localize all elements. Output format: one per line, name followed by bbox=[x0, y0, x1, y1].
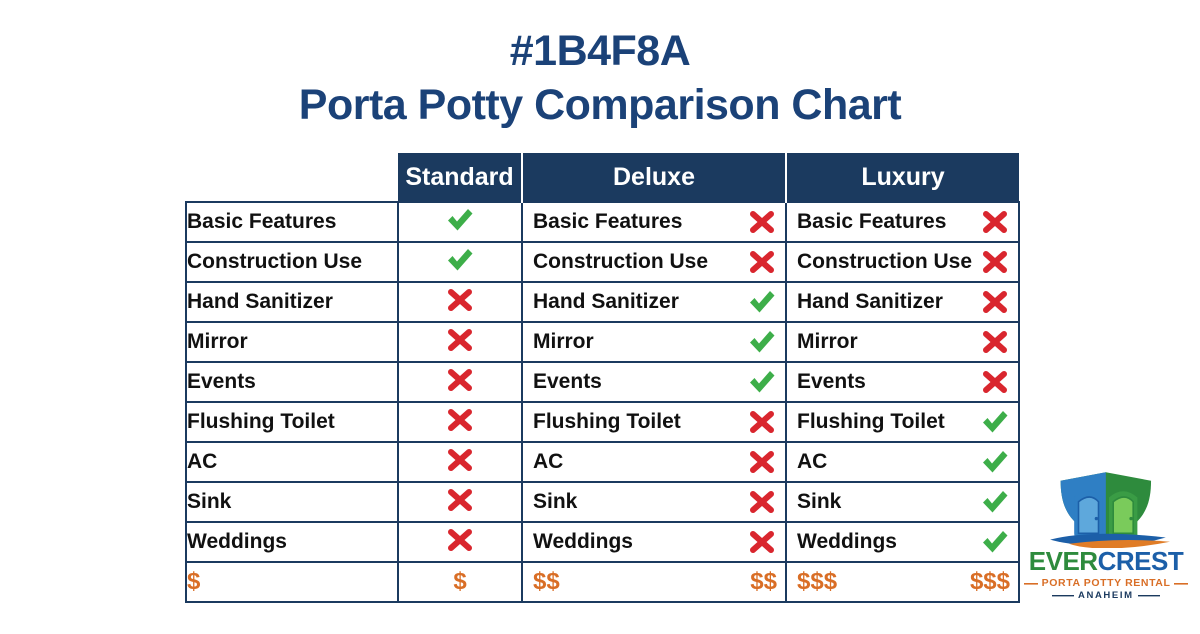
logo-wordmark: EVERCREST bbox=[1020, 546, 1192, 577]
check-icon bbox=[747, 369, 777, 395]
check-mark bbox=[980, 529, 1010, 555]
price-deluxe-cell: $$$$ bbox=[522, 562, 786, 602]
luxury-cell: Events bbox=[786, 362, 1019, 402]
price-feature-cell: $ bbox=[186, 562, 398, 602]
logo-city-dash-left-icon bbox=[1052, 594, 1074, 597]
price-deluxe-content: $$$$ bbox=[523, 563, 785, 601]
luxury-feature-label: Basic Features bbox=[797, 210, 946, 234]
header-row: Standard Deluxe Luxury bbox=[186, 153, 1019, 202]
price-luxury-content: $$$$$$ bbox=[787, 563, 1018, 601]
deluxe-cell-content: AC bbox=[523, 443, 785, 481]
luxury-cell: Hand Sanitizer bbox=[786, 282, 1019, 322]
check-icon bbox=[980, 529, 1010, 555]
price-luxury-label: $$$ bbox=[797, 568, 837, 596]
standard-cell bbox=[398, 362, 522, 402]
cross-icon bbox=[747, 209, 777, 235]
luxury-feature-label: Events bbox=[797, 370, 866, 394]
table-row: Hand SanitizerHand SanitizerHand Sanitiz… bbox=[186, 282, 1019, 322]
cross-icon bbox=[747, 409, 777, 435]
deluxe-feature-label: Weddings bbox=[533, 530, 633, 554]
cross-mark bbox=[980, 209, 1010, 235]
luxury-cell-content: Flushing Toilet bbox=[787, 403, 1018, 441]
page-title: #1B4F8A Porta Potty Comparison Chart bbox=[0, 26, 1200, 132]
luxury-cell-content: Sink bbox=[787, 483, 1018, 521]
check-mark bbox=[980, 449, 1010, 475]
cross-icon bbox=[747, 529, 777, 555]
cross-icon bbox=[980, 249, 1010, 275]
deluxe-cell-content: Events bbox=[523, 363, 785, 401]
price-deluxe-value: $$ bbox=[750, 568, 777, 596]
logo-subtitle-text: PORTA POTTY RENTAL bbox=[1042, 577, 1171, 589]
check-mark bbox=[980, 489, 1010, 515]
deluxe-feature-label: AC bbox=[533, 450, 563, 474]
check-mark bbox=[980, 409, 1010, 435]
deluxe-cell: Weddings bbox=[522, 522, 786, 562]
price-standard-cell: $ bbox=[398, 562, 522, 602]
cross-icon bbox=[980, 209, 1010, 235]
standard-cell bbox=[398, 322, 522, 362]
luxury-feature-label: Hand Sanitizer bbox=[797, 290, 943, 314]
header-standard: Standard bbox=[398, 153, 522, 202]
feature-label-construction-use: Construction Use bbox=[186, 242, 398, 282]
check-icon bbox=[980, 489, 1010, 515]
table-row: Basic FeaturesBasic FeaturesBasic Featur… bbox=[186, 202, 1019, 242]
standard-cell bbox=[398, 482, 522, 522]
cross-mark bbox=[445, 487, 475, 513]
logo-city: ANAHEIM bbox=[1020, 590, 1192, 601]
luxury-feature-label: AC bbox=[797, 450, 827, 474]
luxury-cell-content: AC bbox=[787, 443, 1018, 481]
cross-mark bbox=[445, 407, 475, 433]
cross-mark bbox=[445, 327, 475, 353]
standard-cell bbox=[398, 282, 522, 322]
deluxe-feature-label: Flushing Toilet bbox=[533, 410, 681, 434]
comparison-table: Standard Deluxe Luxury Basic FeaturesBas… bbox=[185, 153, 1020, 603]
feature-label-events: Events bbox=[186, 362, 398, 402]
cross-icon bbox=[445, 327, 475, 353]
deluxe-feature-label: Construction Use bbox=[533, 250, 708, 274]
price-luxury-value: $$$ bbox=[970, 568, 1010, 596]
logo-word-crest: CREST bbox=[1098, 546, 1184, 576]
title-code: #1B4F8A bbox=[0, 26, 1200, 76]
cross-icon bbox=[747, 489, 777, 515]
cross-mark bbox=[980, 369, 1010, 395]
deluxe-cell-content: Basic Features bbox=[523, 203, 785, 241]
table-row: EventsEventsEvents bbox=[186, 362, 1019, 402]
cross-mark bbox=[747, 249, 777, 275]
luxury-feature-label: Construction Use bbox=[797, 250, 972, 274]
cross-mark bbox=[747, 409, 777, 435]
logo-dash-right-icon bbox=[1174, 582, 1188, 585]
deluxe-cell: Mirror bbox=[522, 322, 786, 362]
luxury-cell: Sink bbox=[786, 482, 1019, 522]
check-mark bbox=[747, 329, 777, 355]
cross-mark bbox=[747, 209, 777, 235]
deluxe-cell-content: Sink bbox=[523, 483, 785, 521]
deluxe-cell: AC bbox=[522, 442, 786, 482]
evercrest-logo: EVERCREST PORTA POTTY RENTAL ANAHEIM bbox=[1020, 466, 1192, 606]
price-luxury-cell: $$$$$$ bbox=[786, 562, 1019, 602]
cross-icon bbox=[747, 449, 777, 475]
deluxe-feature-label: Hand Sanitizer bbox=[533, 290, 679, 314]
standard-cell bbox=[398, 522, 522, 562]
luxury-cell-content: Mirror bbox=[787, 323, 1018, 361]
table-row: Flushing ToiletFlushing ToiletFlushing T… bbox=[186, 402, 1019, 442]
cross-mark bbox=[980, 329, 1010, 355]
deluxe-cell: Hand Sanitizer bbox=[522, 282, 786, 322]
price-deluxe-label: $$ bbox=[533, 568, 560, 596]
luxury-cell-content: Basic Features bbox=[787, 203, 1018, 241]
deluxe-feature-label: Sink bbox=[533, 490, 577, 514]
feature-label-flushing-toilet: Flushing Toilet bbox=[186, 402, 398, 442]
check-mark bbox=[747, 289, 777, 315]
cross-mark bbox=[445, 287, 475, 313]
check-icon bbox=[980, 449, 1010, 475]
standard-cell bbox=[398, 442, 522, 482]
luxury-cell: Flushing Toilet bbox=[786, 402, 1019, 442]
luxury-cell-content: Weddings bbox=[787, 523, 1018, 561]
feature-label-hand-sanitizer: Hand Sanitizer bbox=[186, 282, 398, 322]
cross-mark bbox=[445, 367, 475, 393]
check-icon bbox=[747, 329, 777, 355]
title-main: Porta Potty Comparison Chart bbox=[0, 78, 1200, 132]
cross-icon bbox=[445, 487, 475, 513]
logo-city-text: ANAHEIM bbox=[1078, 590, 1134, 601]
cross-icon bbox=[980, 369, 1010, 395]
cross-icon bbox=[445, 527, 475, 553]
standard-cell bbox=[398, 202, 522, 242]
luxury-cell: Mirror bbox=[786, 322, 1019, 362]
luxury-cell-content: Hand Sanitizer bbox=[787, 283, 1018, 321]
luxury-cell: Weddings bbox=[786, 522, 1019, 562]
logo-word-ever: EVER bbox=[1029, 546, 1098, 576]
shield-porta-potty-icon bbox=[1027, 466, 1185, 548]
check-icon bbox=[445, 207, 475, 233]
luxury-cell: Construction Use bbox=[786, 242, 1019, 282]
cross-mark bbox=[980, 249, 1010, 275]
deluxe-cell: Flushing Toilet bbox=[522, 402, 786, 442]
deluxe-cell: Sink bbox=[522, 482, 786, 522]
deluxe-feature-label: Events bbox=[533, 370, 602, 394]
feature-label-ac: AC bbox=[186, 442, 398, 482]
luxury-feature-label: Sink bbox=[797, 490, 841, 514]
cross-icon bbox=[980, 289, 1010, 315]
deluxe-feature-label: Basic Features bbox=[533, 210, 682, 234]
luxury-cell-content: Construction Use bbox=[787, 243, 1018, 281]
luxury-feature-label: Mirror bbox=[797, 330, 858, 354]
check-mark bbox=[445, 207, 475, 233]
check-icon bbox=[747, 289, 777, 315]
deluxe-cell-content: Construction Use bbox=[523, 243, 785, 281]
logo-city-dash-right-icon bbox=[1138, 594, 1160, 597]
feature-label-weddings: Weddings bbox=[186, 522, 398, 562]
luxury-cell: Basic Features bbox=[786, 202, 1019, 242]
cross-mark bbox=[980, 289, 1010, 315]
check-icon bbox=[445, 247, 475, 273]
cross-icon bbox=[747, 249, 777, 275]
table-row: Construction UseConstruction UseConstruc… bbox=[186, 242, 1019, 282]
table-body: Basic FeaturesBasic FeaturesBasic Featur… bbox=[186, 202, 1019, 602]
luxury-feature-label: Flushing Toilet bbox=[797, 410, 945, 434]
header-deluxe: Deluxe bbox=[522, 153, 786, 202]
logo-subtitle: PORTA POTTY RENTAL bbox=[1020, 577, 1192, 589]
standard-cell bbox=[398, 242, 522, 282]
table-row: SinkSinkSink bbox=[186, 482, 1019, 522]
luxury-cell: AC bbox=[786, 442, 1019, 482]
luxury-cell-content: Events bbox=[787, 363, 1018, 401]
cross-icon bbox=[980, 329, 1010, 355]
feature-label-mirror: Mirror bbox=[186, 322, 398, 362]
table-header: Standard Deluxe Luxury bbox=[186, 153, 1019, 202]
cross-icon bbox=[445, 287, 475, 313]
deluxe-cell-content: Hand Sanitizer bbox=[523, 283, 785, 321]
table-row: ACACAC bbox=[186, 442, 1019, 482]
cross-mark bbox=[445, 447, 475, 473]
cross-mark bbox=[747, 489, 777, 515]
deluxe-feature-label: Mirror bbox=[533, 330, 594, 354]
luxury-feature-label: Weddings bbox=[797, 530, 897, 554]
cross-icon bbox=[445, 447, 475, 473]
check-icon bbox=[980, 409, 1010, 435]
logo-dash-left-icon bbox=[1024, 582, 1038, 585]
cross-icon bbox=[445, 367, 475, 393]
deluxe-cell: Construction Use bbox=[522, 242, 786, 282]
cross-mark bbox=[445, 527, 475, 553]
check-mark bbox=[747, 369, 777, 395]
deluxe-cell-content: Weddings bbox=[523, 523, 785, 561]
table-row: WeddingsWeddingsWeddings bbox=[186, 522, 1019, 562]
check-mark bbox=[445, 247, 475, 273]
header-luxury: Luxury bbox=[786, 153, 1019, 202]
price-row: $$$$$$$$$$$$ bbox=[186, 562, 1019, 602]
header-spacer bbox=[186, 153, 398, 202]
deluxe-cell: Events bbox=[522, 362, 786, 402]
cross-mark bbox=[747, 529, 777, 555]
deluxe-cell-content: Flushing Toilet bbox=[523, 403, 785, 441]
standard-cell bbox=[398, 402, 522, 442]
cross-icon bbox=[445, 407, 475, 433]
cross-mark bbox=[747, 449, 777, 475]
feature-label-basic-features: Basic Features bbox=[186, 202, 398, 242]
feature-label-sink: Sink bbox=[186, 482, 398, 522]
deluxe-cell-content: Mirror bbox=[523, 323, 785, 361]
table-row: MirrorMirrorMirror bbox=[186, 322, 1019, 362]
deluxe-cell: Basic Features bbox=[522, 202, 786, 242]
